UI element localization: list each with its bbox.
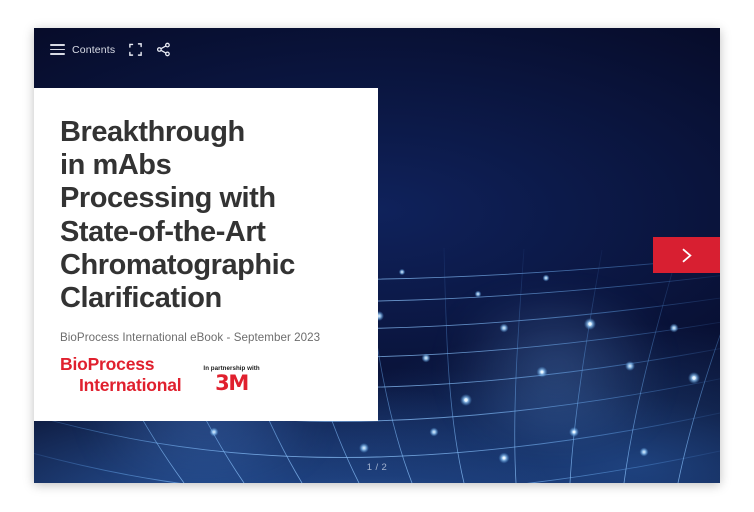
partnership-block: In partnership with 3M: [203, 365, 259, 395]
brand-line-1: BioProcess: [60, 354, 154, 374]
brand-line-2: International: [60, 375, 181, 395]
chevron-right-icon: [679, 246, 695, 265]
viewer-toolbar: Contents: [34, 28, 720, 71]
ebook-cover-card: Breakthrough in mAbs Processing with Sta…: [34, 88, 378, 421]
next-page-button[interactable]: [653, 237, 720, 273]
contents-menu-button[interactable]: Contents: [50, 44, 115, 56]
cover-title: Breakthrough in mAbs Processing with Sta…: [60, 116, 352, 315]
page-indicator: 1 / 2: [34, 462, 720, 473]
background-glow-right: [418, 301, 692, 438]
hamburger-icon: [50, 44, 65, 55]
share-icon[interactable]: [156, 42, 171, 57]
3m-logo: 3M: [203, 374, 259, 394]
cover-logo-row: BioProcess International In partnership …: [60, 354, 352, 395]
bioprocess-international-logo: BioProcess International: [60, 354, 181, 395]
contents-label: Contents: [72, 44, 115, 56]
cover-subtitle: BioProcess International eBook - Septemb…: [60, 331, 352, 344]
ebook-viewer: Contents Breakthrough in mAbs Processing…: [34, 28, 720, 483]
fullscreen-icon[interactable]: [128, 42, 143, 57]
